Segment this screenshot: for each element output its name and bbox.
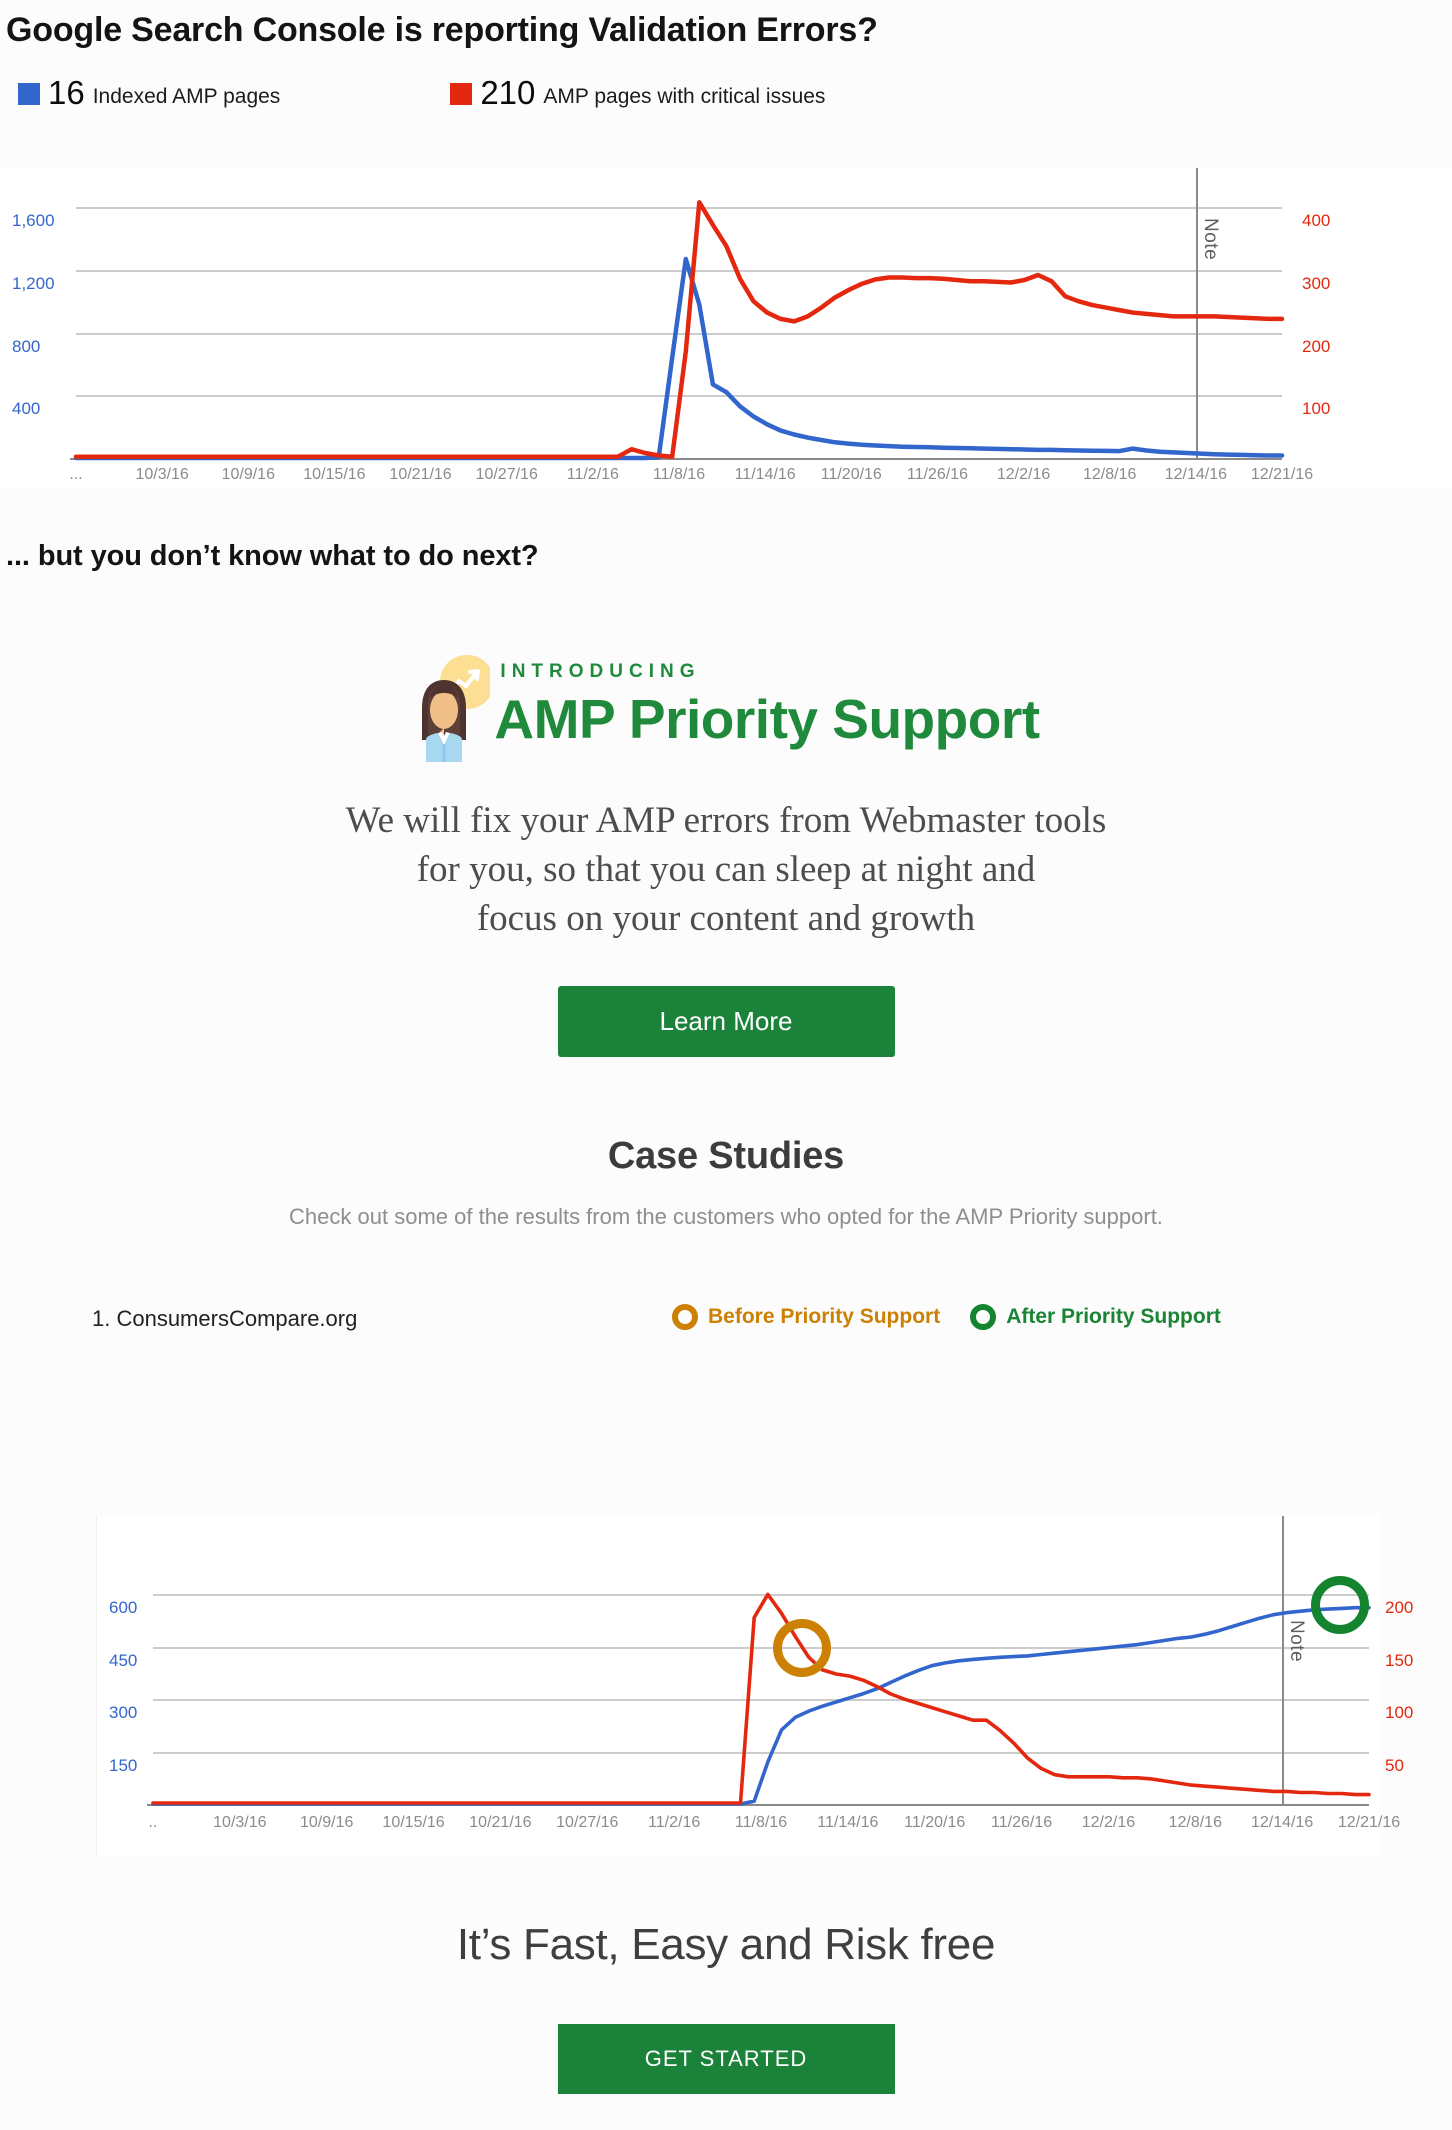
case-studies-title: Case Studies bbox=[0, 1135, 1452, 1178]
x-axis-tick: 11/2/16 bbox=[567, 466, 619, 484]
get-started-button[interactable]: GET STARTED bbox=[558, 2024, 895, 2094]
y-axis-right-tick: 100 bbox=[1302, 399, 1330, 419]
y-axis-left-tick: 600 bbox=[109, 1598, 137, 1618]
x-axis-tick: 10/27/16 bbox=[556, 1814, 618, 1832]
product-title: AMP Priority Support bbox=[494, 689, 1039, 751]
x-axis-tick: 11/20/16 bbox=[821, 466, 882, 484]
consumerscompare-case-study-chart[interactable]: 60045030015020015010050..10/3/1610/9/161… bbox=[96, 1516, 1380, 1856]
closing-headline: It’s Fast, Easy and Risk free bbox=[0, 1920, 1452, 1970]
x-axis-tick: 10/15/16 bbox=[382, 1814, 444, 1832]
x-axis-tick: 11/20/16 bbox=[904, 1814, 965, 1832]
legend-item-critical-issues: 210 AMP pages with critical issues bbox=[450, 77, 825, 108]
y-axis-right-tick: 200 bbox=[1385, 1598, 1413, 1618]
pitch-line-3: focus on your content and growth bbox=[0, 894, 1452, 943]
series-line bbox=[153, 1594, 1369, 1803]
x-axis-tick: 10/15/16 bbox=[303, 466, 365, 484]
validation-errors-headline: Google Search Console is reporting Valid… bbox=[0, 0, 1452, 51]
chart-series-layer bbox=[153, 1542, 1369, 1808]
x-axis-tick: 10/27/16 bbox=[476, 466, 538, 484]
x-axis-tick: 10/3/16 bbox=[213, 1814, 266, 1832]
woman-with-growth-chart-avatar-icon bbox=[412, 650, 490, 762]
legend-label: AMP pages with critical issues bbox=[543, 85, 825, 108]
before-support-label: Before Priority Support bbox=[708, 1305, 940, 1329]
introducing-eyebrow: INTRODUCING bbox=[494, 661, 1039, 683]
y-axis-right-tick: 50 bbox=[1385, 1756, 1404, 1776]
x-axis-tick: .. bbox=[149, 1814, 158, 1832]
x-axis-tick: 10/21/16 bbox=[389, 466, 451, 484]
x-axis-tick: 11/26/16 bbox=[907, 466, 968, 484]
product-pitch: We will fix your AMP errors from Webmast… bbox=[0, 796, 1452, 944]
legend-value: 210 bbox=[480, 77, 535, 108]
legend-item-indexed-amp-pages: 16 Indexed AMP pages bbox=[18, 77, 280, 108]
x-axis-tick: 12/8/16 bbox=[1083, 466, 1136, 484]
x-axis-tick: 11/2/16 bbox=[648, 1814, 700, 1832]
chart-series-layer bbox=[76, 176, 1282, 462]
y-axis-right-tick: 400 bbox=[1302, 211, 1330, 231]
x-axis-tick: 12/21/16 bbox=[1251, 466, 1313, 484]
y-axis-right-tick: 100 bbox=[1385, 1703, 1413, 1723]
chart1-plot-area: 1,6001,200800400400300200100...10/3/1610… bbox=[76, 176, 1282, 458]
series-line bbox=[76, 202, 1282, 456]
case-study-header: 1. ConsumersCompare.org Before Priority … bbox=[0, 1304, 1452, 1344]
x-axis-tick: ... bbox=[69, 466, 82, 484]
green-ring-icon bbox=[970, 1304, 996, 1330]
y-axis-left-tick: 150 bbox=[109, 1756, 137, 1776]
series-line bbox=[76, 259, 1282, 458]
y-axis-left-tick: 1,200 bbox=[12, 274, 55, 294]
y-axis-left-tick: 450 bbox=[109, 1651, 137, 1671]
y-axis-right-tick: 200 bbox=[1302, 337, 1330, 357]
pitch-line-1: We will fix your AMP errors from Webmast… bbox=[0, 796, 1452, 845]
case-study-legend: Before Priority Support After Priority S… bbox=[672, 1304, 1221, 1330]
x-axis-tick: 12/8/16 bbox=[1169, 1814, 1222, 1832]
x-axis-tick: 10/9/16 bbox=[300, 1814, 353, 1832]
x-axis-tick: 10/21/16 bbox=[469, 1814, 531, 1832]
legend-value: 16 bbox=[48, 77, 85, 108]
x-axis-tick: 12/14/16 bbox=[1251, 1814, 1313, 1832]
orange-ring-icon bbox=[672, 1304, 698, 1330]
learn-more-button[interactable]: Learn More bbox=[558, 986, 895, 1057]
blue-square-swatch-icon bbox=[18, 83, 40, 105]
y-axis-right-tick: 300 bbox=[1302, 274, 1330, 294]
chart1-legend: 16 Indexed AMP pages 210 AMP pages with … bbox=[0, 51, 1452, 108]
series-line bbox=[153, 1608, 1369, 1804]
x-axis-tick: 11/14/16 bbox=[735, 466, 796, 484]
dont-know-next-subhead: ... but you don’t know what to do next? bbox=[0, 540, 1452, 573]
x-axis-tick: 12/21/16 bbox=[1338, 1814, 1400, 1832]
y-axis-right-tick: 150 bbox=[1385, 1651, 1413, 1671]
after-support-label: After Priority Support bbox=[1006, 1305, 1221, 1329]
case-study-name: 1. ConsumersCompare.org bbox=[92, 1306, 357, 1332]
x-axis-tick: 12/14/16 bbox=[1165, 466, 1227, 484]
amp-validation-chart[interactable]: 1,6001,200800400400300200100...10/3/1610… bbox=[0, 168, 1452, 488]
case-studies-subtitle: Check out some of the results from the c… bbox=[0, 1204, 1452, 1230]
y-axis-left-tick: 800 bbox=[12, 337, 40, 357]
x-axis-tick: 10/9/16 bbox=[222, 466, 275, 484]
pitch-line-2: for you, so that you can sleep at night … bbox=[0, 845, 1452, 894]
x-axis-tick: 11/26/16 bbox=[991, 1814, 1052, 1832]
after-support-ring-marker bbox=[1311, 1576, 1369, 1634]
x-axis-tick: 11/8/16 bbox=[735, 1814, 787, 1832]
introducing-row: INTRODUCING AMP Priority Support bbox=[0, 650, 1452, 762]
before-support-ring-marker bbox=[773, 1619, 831, 1677]
legend-label: Indexed AMP pages bbox=[93, 85, 281, 108]
y-axis-left-tick: 300 bbox=[109, 1703, 137, 1723]
x-axis-tick: 12/2/16 bbox=[1082, 1814, 1135, 1832]
x-axis-tick: 12/2/16 bbox=[997, 466, 1050, 484]
x-axis-tick: 10/3/16 bbox=[135, 466, 188, 484]
x-axis-tick: 11/14/16 bbox=[817, 1814, 878, 1832]
x-axis-tick: 11/8/16 bbox=[653, 466, 705, 484]
y-axis-left-tick: 400 bbox=[12, 399, 40, 419]
y-axis-left-tick: 1,600 bbox=[12, 211, 55, 231]
chart2-plot-area: 60045030015020015010050..10/3/1610/9/161… bbox=[153, 1542, 1369, 1804]
red-square-swatch-icon bbox=[450, 83, 472, 105]
